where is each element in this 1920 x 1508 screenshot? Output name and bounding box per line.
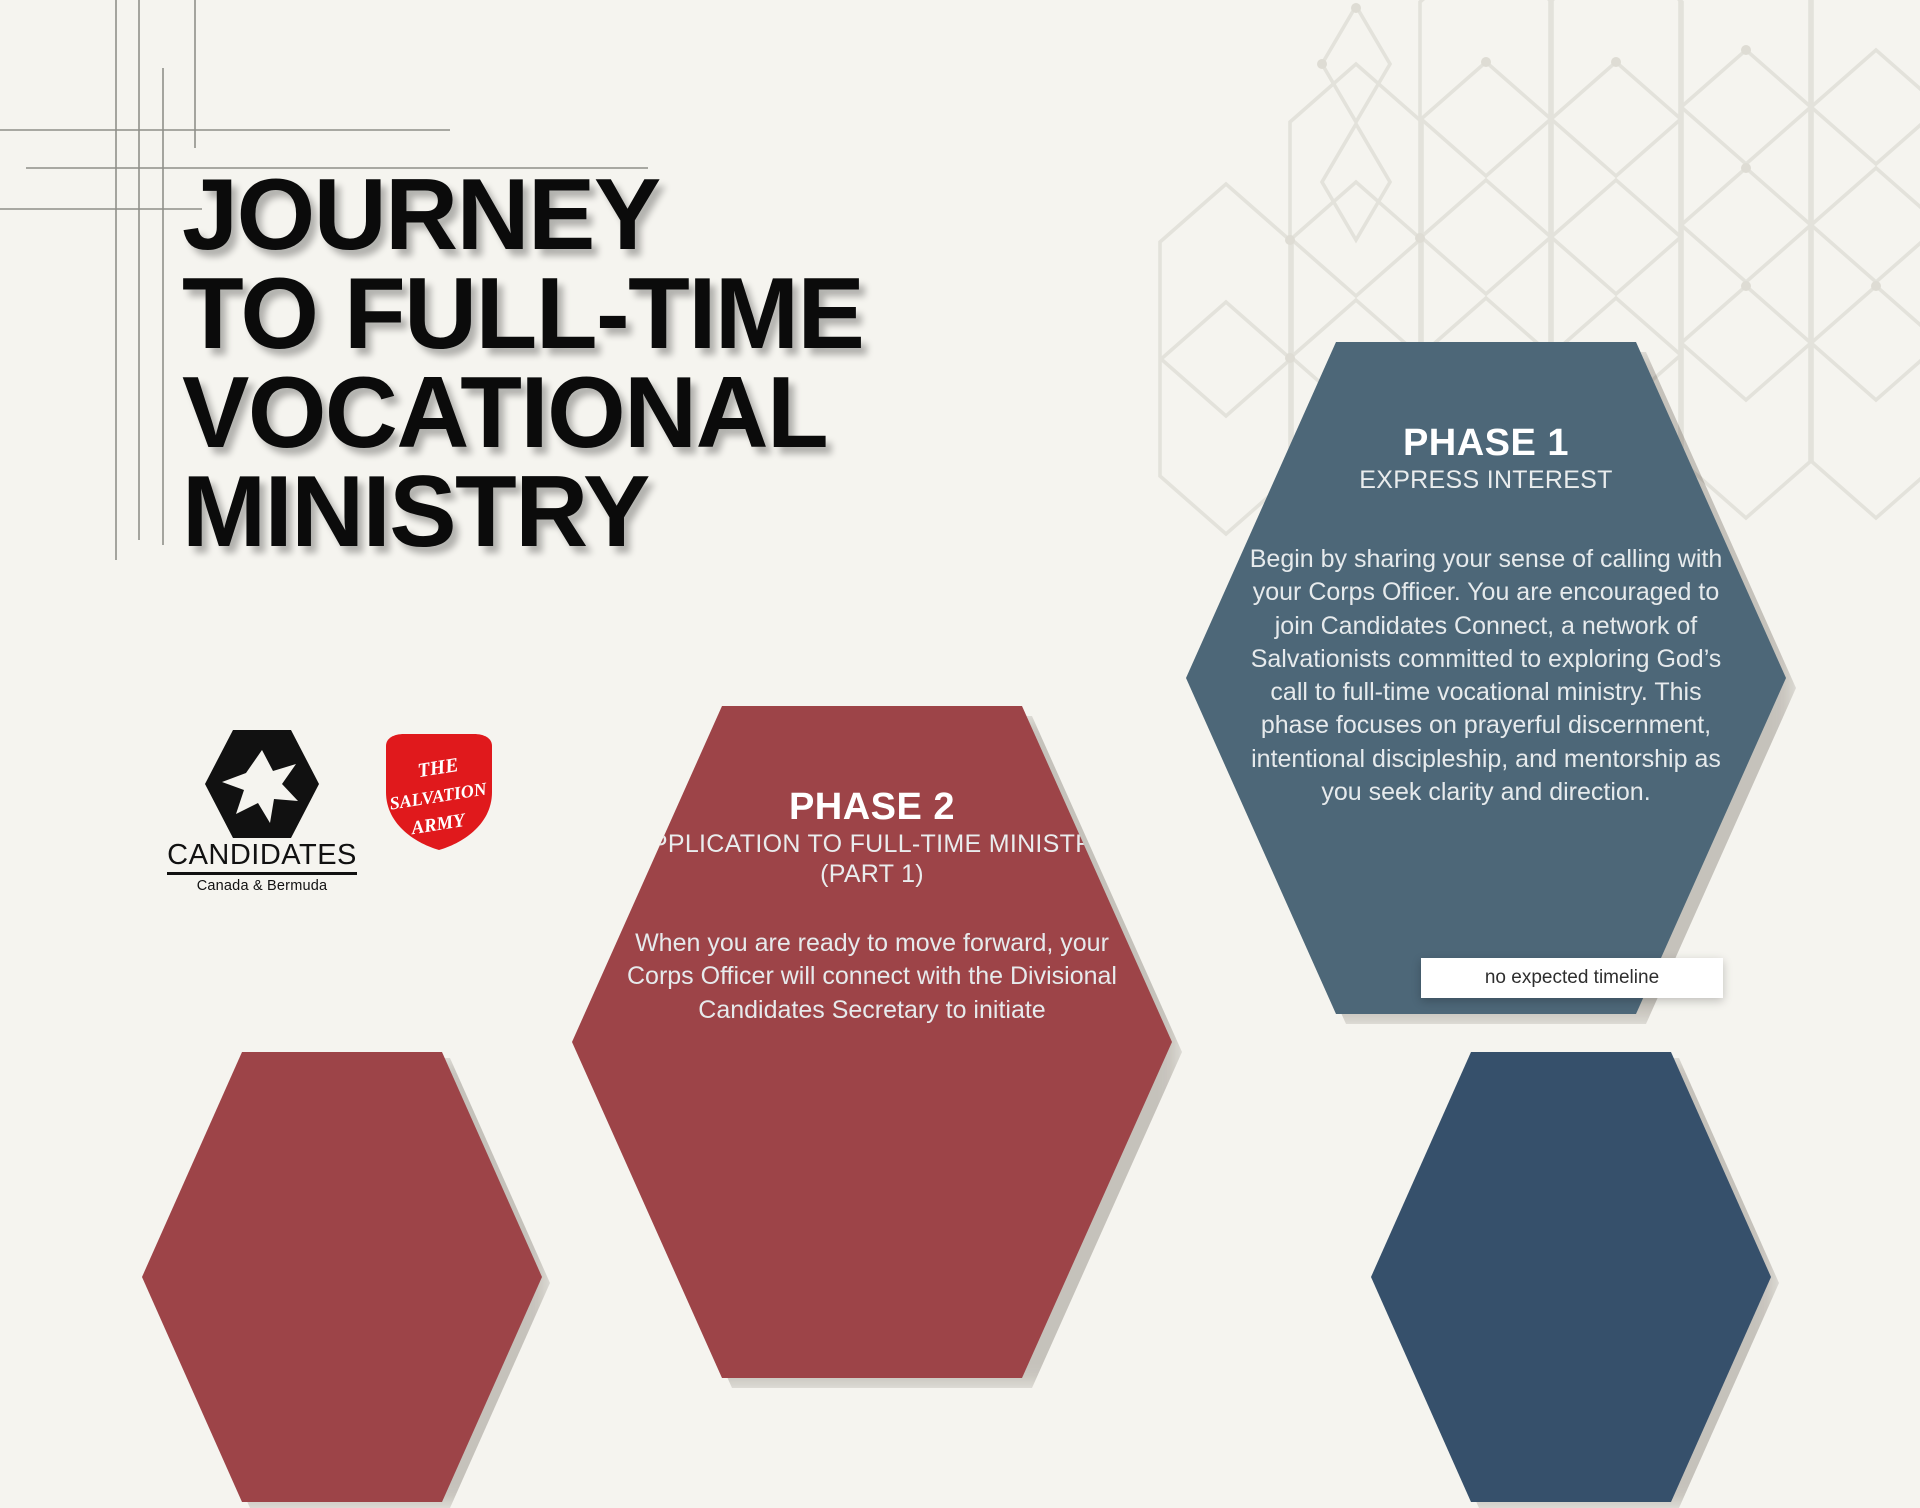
phase-2-title: PHASE 2 [789,786,955,829]
candidates-region-label: Canada & Bermuda [197,878,328,894]
candidates-hexagon-star-icon [203,728,321,840]
phase-2-subtitle-line2: (PART 1) [820,859,924,889]
title-line-2: TO FULL-TIME [182,265,1002,364]
phase-card-1[interactable]: PHASE 1 EXPRESS INTEREST Begin by sharin… [1186,342,1786,1014]
phase-1-timeline-badge: no expected timeline [1421,958,1723,998]
phase-card-2[interactable]: PHASE 2 APPLICATION TO FULL-TIME MINISTR… [572,706,1172,1378]
logo-row: CANDIDATES Canada & Bermuda THE SALVATIO… [182,728,500,894]
title-line-3: VOCATIONAL [182,364,1002,463]
phase-2-body: When you are ready to move forward, your… [617,927,1127,1027]
salvation-army-logo: THE SALVATION ARMY [378,730,500,854]
title-line-1: JOURNEY [182,166,1002,265]
phase-2-subtitle-line1: APPLICATION TO FULL-TIME MINISTRY [634,829,1110,859]
page-title: JOURNEY TO FULL-TIME VOCATIONAL MINISTRY [182,166,1002,562]
phase-1-title: PHASE 1 [1403,422,1569,465]
title-line-4: MINISTRY [182,463,1002,562]
salvation-army-shield-icon: THE SALVATION ARMY [378,730,500,854]
phase-1-subtitle: EXPRESS INTEREST [1359,465,1612,495]
phase-1-body: Begin by sharing your sense of calling w… [1236,543,1736,809]
candidates-logo: CANDIDATES Canada & Bermuda [182,728,342,894]
candidates-wordmark: CANDIDATES [167,841,357,875]
